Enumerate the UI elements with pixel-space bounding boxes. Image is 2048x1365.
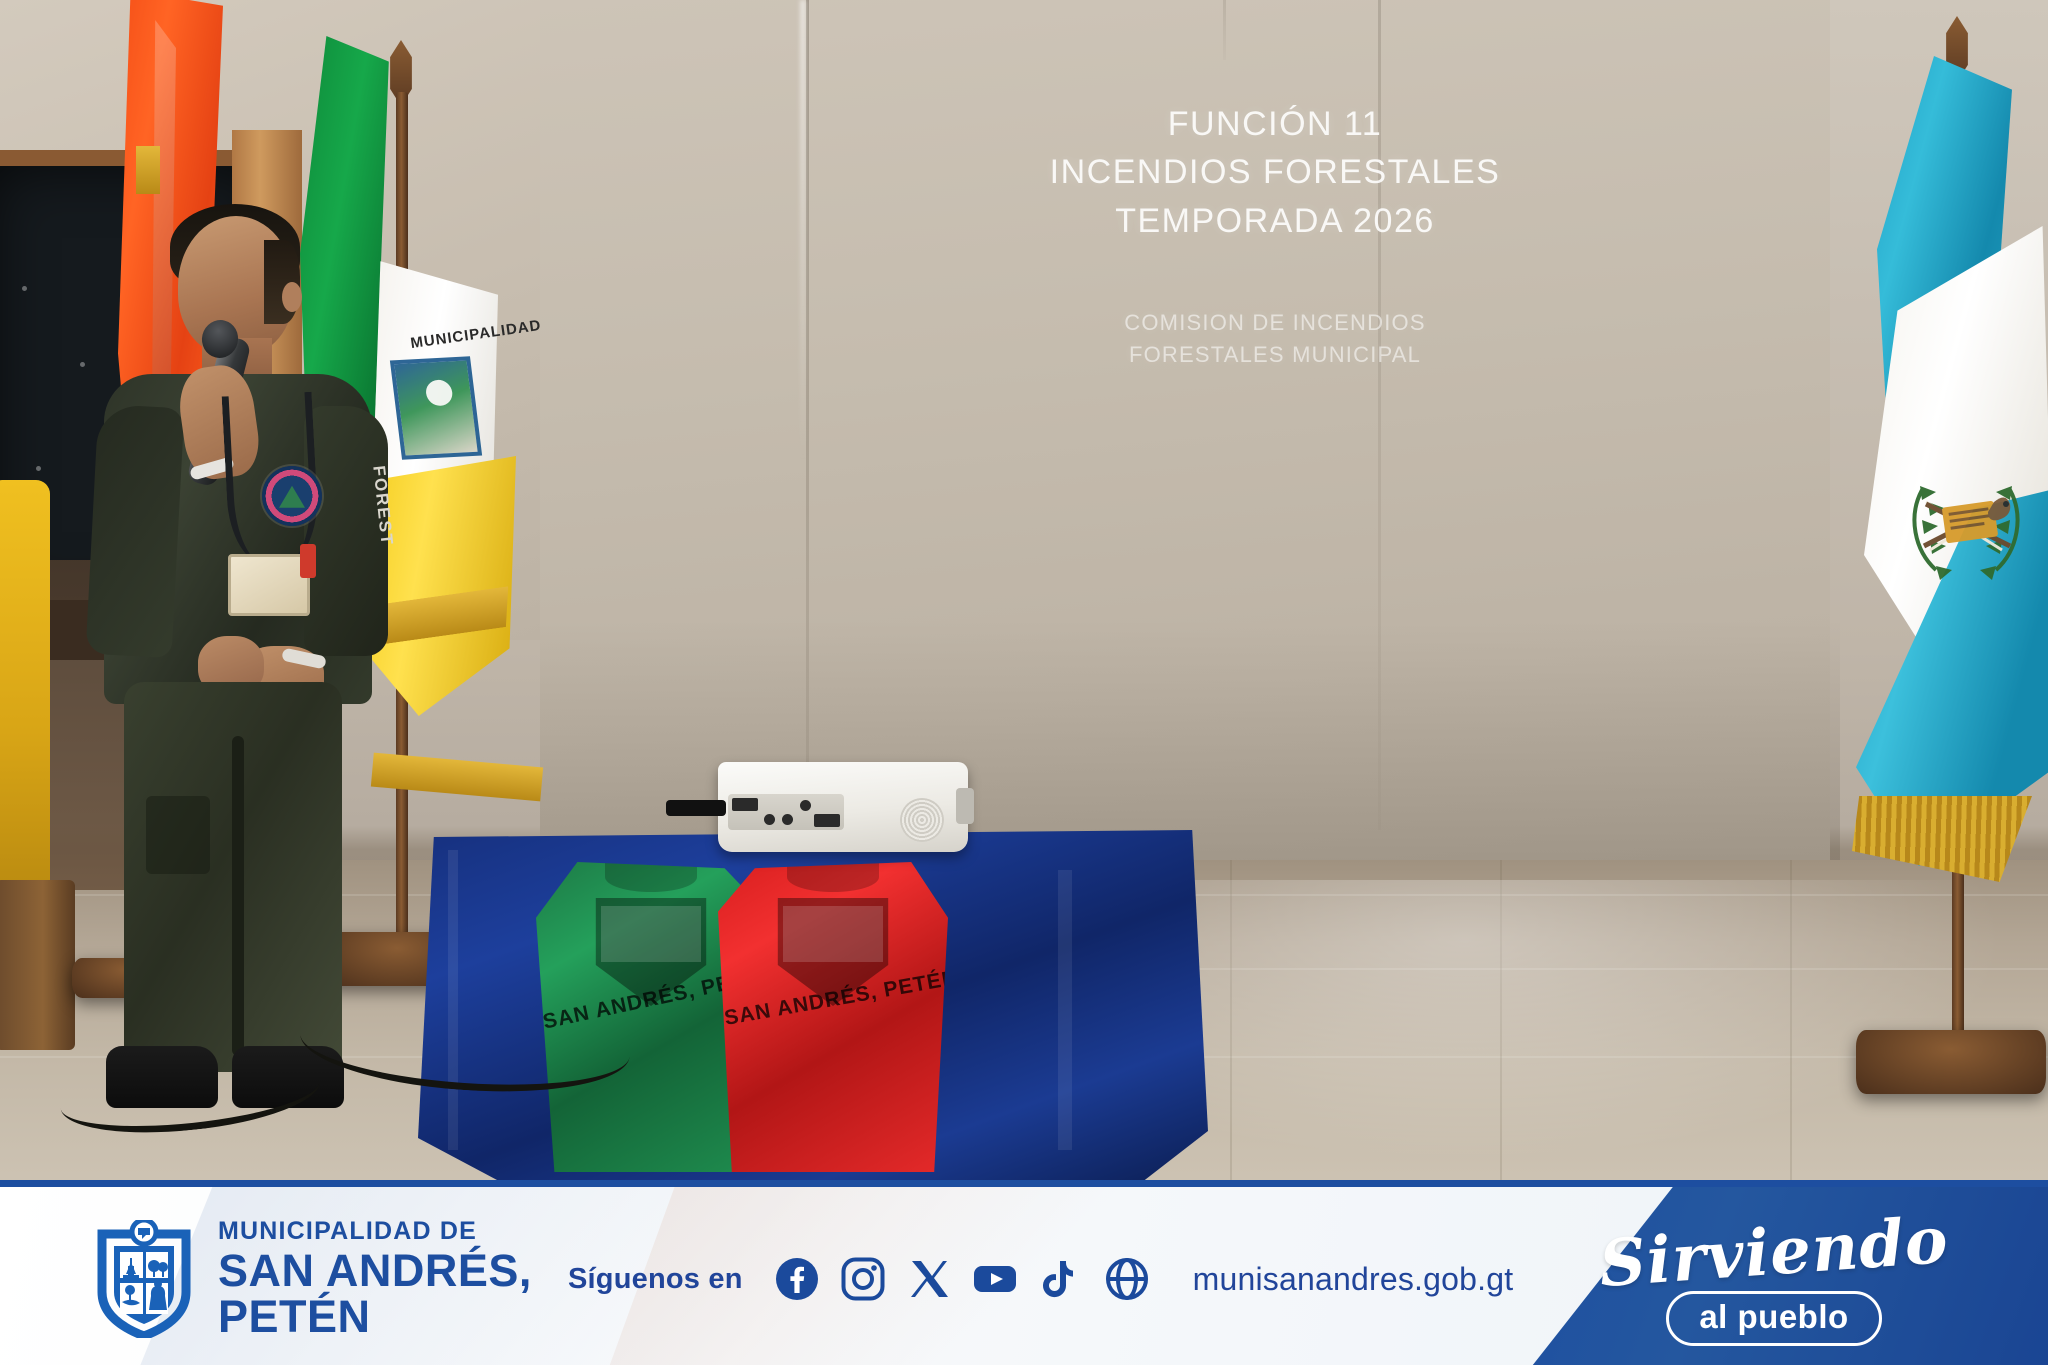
presenter: FOREST bbox=[86, 216, 386, 1106]
guatemala-flag bbox=[1856, 56, 2048, 846]
footer-banner: MUNICIPALIDAD DE SAN ANDRÉS, PETÉN Sígue… bbox=[0, 1180, 2048, 1365]
shirt-collar bbox=[787, 862, 879, 892]
slogan-pill: al pueblo bbox=[1666, 1291, 1881, 1346]
conred-patch-icon bbox=[262, 466, 322, 526]
projector bbox=[718, 762, 968, 852]
badge-clip bbox=[300, 544, 316, 578]
wall-light-streak bbox=[800, 0, 806, 460]
shirt-collar bbox=[605, 862, 697, 892]
facebook-icon[interactable] bbox=[775, 1257, 819, 1301]
municipality-logo[interactable]: MUNICIPALIDAD DE SAN ANDRÉS, PETÉN bbox=[92, 1219, 532, 1340]
social-row: Síguenos en bbox=[568, 1257, 1513, 1301]
slogan-lockup: Sirviendo al pueblo bbox=[1564, 1221, 1984, 1346]
display-table: SAN ANDRÉS, PETÉN SAN ANDRÉS, PETÉN bbox=[418, 830, 1208, 1180]
wall-seam bbox=[1223, 0, 1226, 60]
wooden-post bbox=[0, 880, 75, 1050]
event-photo: MUNICIPALIDAD FOREST bbox=[0, 0, 2048, 1180]
logo-line-1: MUNICIPALIDAD DE bbox=[218, 1219, 532, 1244]
projector-vent bbox=[900, 798, 944, 842]
follow-us-label: Síguenos en bbox=[568, 1263, 743, 1296]
tiktok-icon[interactable] bbox=[1039, 1257, 1083, 1301]
website-globe-icon[interactable] bbox=[1105, 1257, 1149, 1301]
projector-lens bbox=[956, 788, 974, 824]
id-badge bbox=[228, 554, 310, 616]
coat-of-arms-shield-icon bbox=[92, 1220, 196, 1338]
logo-line-3: PETÉN bbox=[218, 1294, 532, 1340]
red-tshirt: SAN ANDRÉS, PETÉN bbox=[718, 862, 948, 1172]
logo-line-2: SAN ANDRÉS, bbox=[218, 1248, 532, 1294]
guatemala-coat-of-arms-icon bbox=[1906, 446, 2026, 606]
flag-fringe bbox=[136, 146, 160, 194]
projector-ports bbox=[728, 794, 844, 830]
yellow-object bbox=[0, 480, 50, 900]
presenter-left-arm bbox=[86, 404, 185, 658]
municipal-flag-emblem bbox=[390, 356, 482, 459]
power-cable bbox=[666, 800, 726, 816]
flag-base bbox=[1856, 1030, 2046, 1094]
x-twitter-icon[interactable] bbox=[907, 1257, 951, 1301]
slogan-script: Sirviendo bbox=[1562, 1206, 1985, 1299]
website-url[interactable]: munisanandres.gob.gt bbox=[1193, 1261, 1514, 1298]
youtube-icon[interactable] bbox=[973, 1257, 1017, 1301]
instagram-icon[interactable] bbox=[841, 1257, 885, 1301]
screenshot-root: MUNICIPALIDAD FOREST bbox=[0, 0, 2048, 1365]
leg-gap bbox=[232, 736, 244, 1056]
cargo-pocket bbox=[146, 796, 210, 874]
presenter-ear bbox=[282, 282, 302, 312]
